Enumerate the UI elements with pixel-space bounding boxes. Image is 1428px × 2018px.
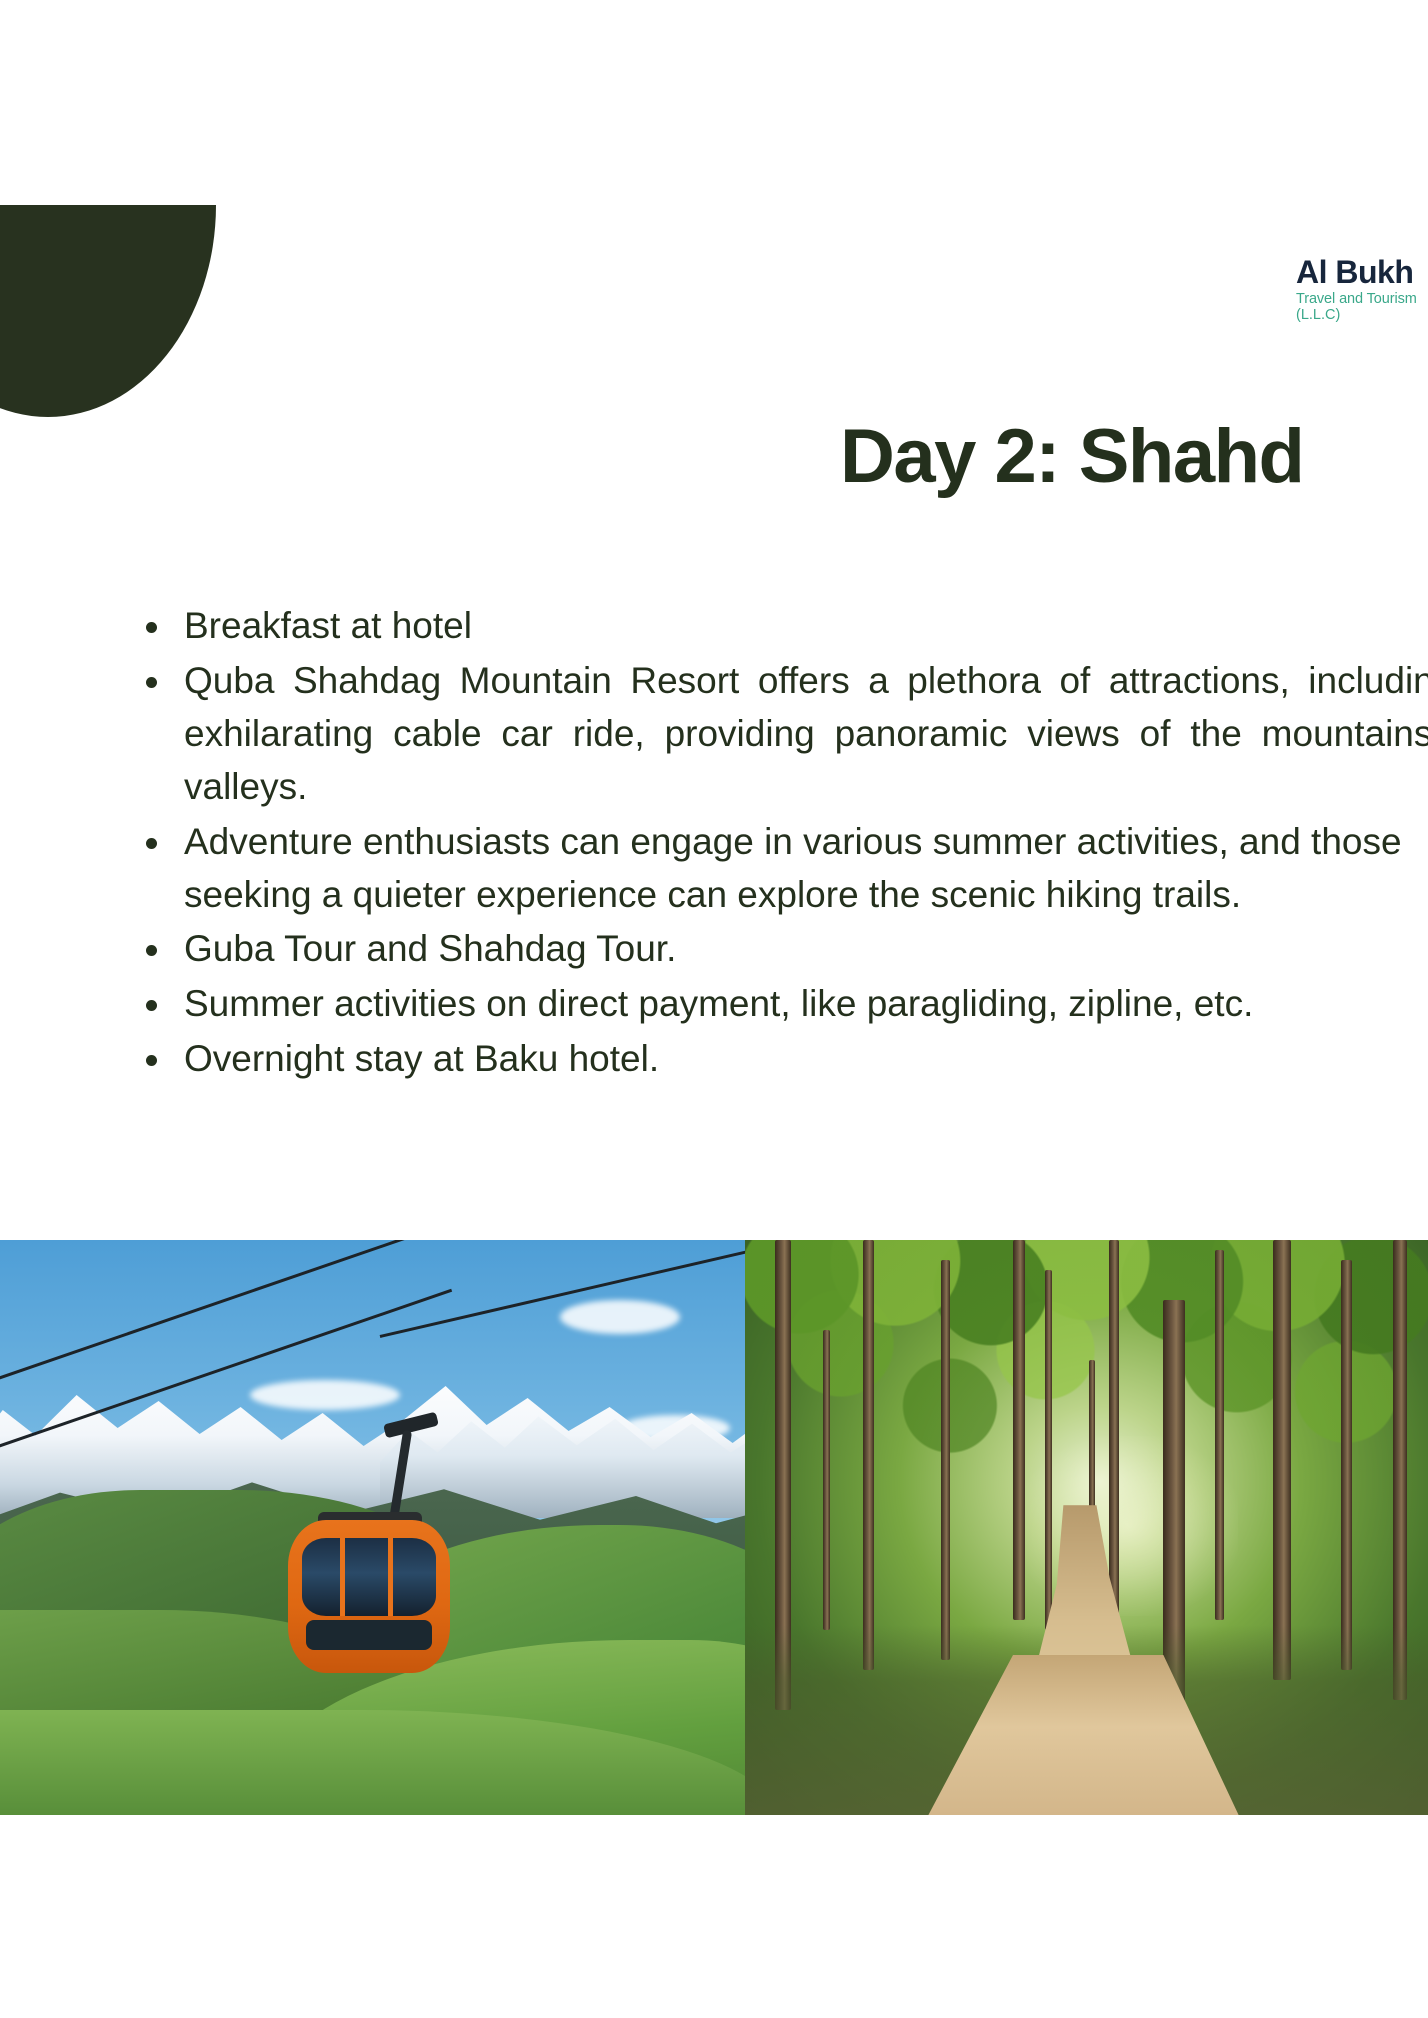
photo-cable-car <box>0 1240 745 1815</box>
gondola-lower-window <box>306 1620 432 1650</box>
page-title: Day 2: Shahd <box>840 415 1303 499</box>
tree-trunk <box>863 1240 874 1670</box>
photo-strip <box>0 1240 1428 1815</box>
gondola-window-frame <box>340 1538 345 1616</box>
list-item: Quba Shahdag Mountain Resort offers a pl… <box>140 655 1428 814</box>
list-item: Summer activities on direct payment, lik… <box>140 978 1428 1031</box>
tree-trunk <box>1109 1240 1119 1635</box>
itinerary-bullet-list: Breakfast at hotel Quba Shahdag Mountain… <box>140 600 1428 1088</box>
list-item: Breakfast at hotel <box>140 600 1428 653</box>
gondola-window-frame <box>388 1538 393 1616</box>
tree-trunk <box>1045 1270 1052 1630</box>
tree-trunk <box>1215 1250 1224 1620</box>
list-item: Overnight stay at Baku hotel. <box>140 1033 1428 1086</box>
corner-decoration-shape <box>0 205 216 417</box>
list-item: Adventure enthusiasts can engage in vari… <box>140 816 1428 922</box>
tree-trunk <box>941 1260 950 1660</box>
slide: Al Bukh Travel and Tourism (L.L.C) Day 2… <box>0 0 1428 2018</box>
logo-tagline: Travel and Tourism <box>1296 292 1428 307</box>
cloud-shape <box>560 1300 680 1334</box>
gondola-window <box>302 1538 436 1616</box>
tree-trunk <box>1013 1240 1025 1620</box>
photo-forest-trail <box>745 1240 1428 1815</box>
brand-logo: Al Bukh Travel and Tourism (L.L.C) <box>1296 256 1428 322</box>
cable-car-gondola <box>288 1498 450 1673</box>
logo-legal-suffix: (L.L.C) <box>1296 308 1428 323</box>
tree-trunk <box>823 1330 830 1630</box>
list-item: Guba Tour and Shahdag Tour. <box>140 923 1428 976</box>
logo-company-name: Al Bukh <box>1296 256 1428 288</box>
cloud-shape <box>250 1380 400 1410</box>
tree-trunk <box>1273 1240 1291 1680</box>
tree-trunk <box>1341 1260 1352 1670</box>
